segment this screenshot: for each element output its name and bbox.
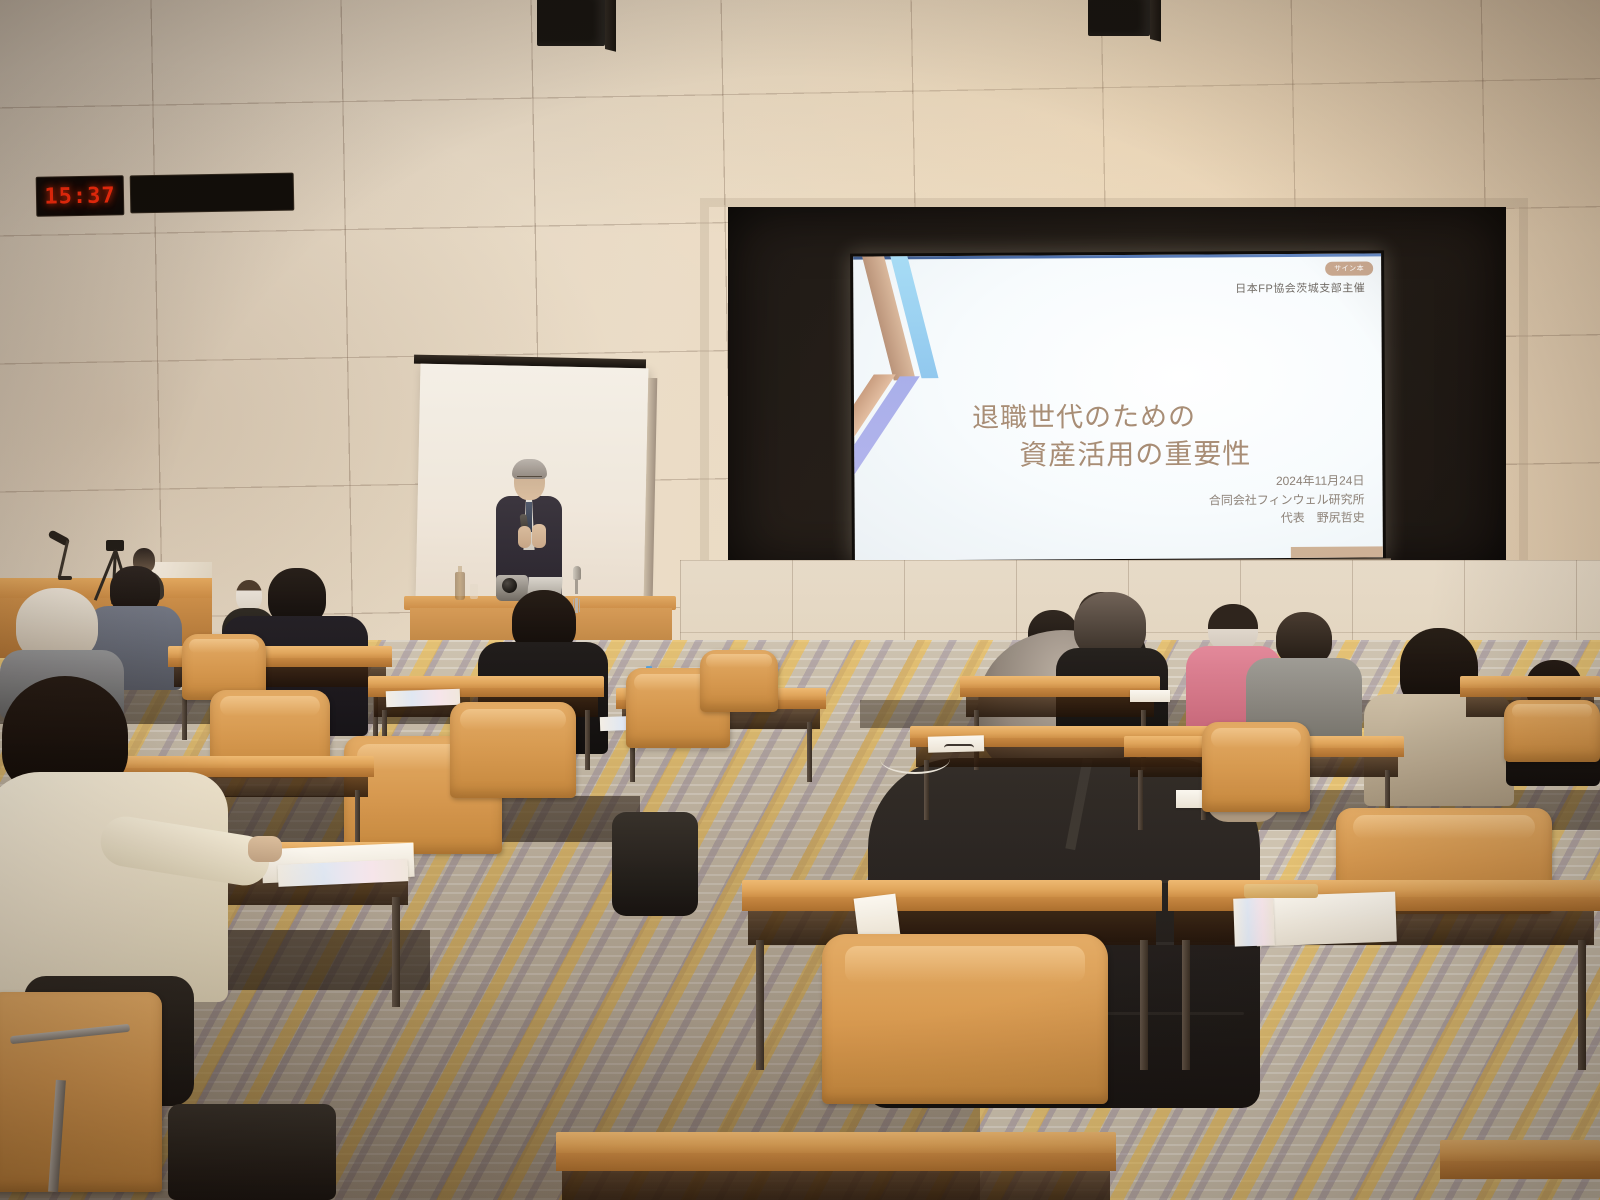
clock-time-display: 15:37 — [44, 183, 116, 209]
power-cable — [880, 744, 950, 774]
chair-back — [700, 650, 778, 712]
brochure — [1233, 897, 1275, 946]
chair[interactable] — [1504, 700, 1600, 762]
ceiling-speaker-left-icon — [537, 0, 605, 46]
desk-leg — [807, 722, 812, 782]
speaker-hand-left — [518, 526, 531, 548]
blank-signboard — [130, 173, 295, 214]
desk-leg — [1138, 770, 1143, 830]
desk-bottom-edge — [556, 1132, 1116, 1200]
glasses-icon — [517, 476, 542, 483]
desk-edge — [742, 897, 1162, 911]
desk-top — [1440, 1140, 1600, 1162]
slide-host-line: 日本FP協会茨城支部主催 — [1235, 279, 1365, 296]
backpack-on-floor — [168, 1104, 336, 1200]
desk-leg — [585, 710, 590, 770]
desk-edge — [556, 1153, 1116, 1171]
handout-paper — [1255, 892, 1397, 947]
desk-leg — [1182, 940, 1190, 1070]
desk-top — [742, 880, 1162, 898]
desk-leg — [355, 790, 360, 850]
chair[interactable] — [822, 934, 1108, 1104]
chair[interactable] — [450, 702, 576, 798]
chair-back — [1202, 722, 1310, 812]
handout-paper — [1130, 690, 1170, 702]
chair-highlight — [1211, 728, 1302, 748]
drinking-glass-icon — [470, 584, 478, 599]
chair[interactable] — [700, 650, 778, 712]
chair-highlight — [1512, 704, 1593, 718]
chair-highlight — [189, 639, 260, 654]
water-bottle-icon — [455, 572, 465, 600]
chair-highlight — [706, 654, 772, 668]
hand — [248, 836, 282, 862]
chair-back — [450, 702, 576, 798]
slide-meta-block: 2024年11月24日 合同会社フィンウェル研究所 代表 野尻哲史 — [1209, 472, 1365, 529]
chair-back — [0, 992, 162, 1192]
desk-top — [556, 1132, 1116, 1154]
desk-bottom-right-edge — [1440, 1140, 1600, 1200]
chair-highlight — [845, 946, 1085, 983]
slide-title-line-1: 退職世代のための — [972, 395, 1196, 435]
bag-on-floor-right — [612, 812, 698, 916]
speaker-hand-right — [532, 524, 546, 548]
chair-back — [822, 934, 1108, 1104]
desk-leg — [756, 940, 764, 1070]
lecture-hall-scene: 15:37 サイン本 日本FP協会茨城支部主催 退職世代のための 資産活用の重要… — [0, 0, 1600, 1200]
desk-leg — [1140, 940, 1148, 1070]
slide-title-line-2: 資産活用の重要性 — [1019, 432, 1251, 473]
projection-screen: サイン本 日本FP協会茨城支部主催 退職世代のための 資産活用の重要性 2024… — [850, 250, 1386, 563]
slide-footer-tab — [1291, 546, 1383, 558]
chair[interactable] — [1202, 722, 1310, 812]
digital-wall-clock: 15:37 — [36, 175, 125, 217]
chair[interactable] — [0, 992, 162, 1192]
slide-top-rule — [853, 253, 1381, 259]
slide-presenter: 代表 野尻哲史 — [1209, 509, 1365, 529]
desk-leg — [392, 897, 400, 1007]
chair-back — [1504, 700, 1600, 762]
eyeglasses-icon — [944, 744, 974, 752]
chair-highlight — [1353, 815, 1534, 838]
chair-highlight — [460, 709, 566, 730]
desk-edge — [1440, 1161, 1600, 1179]
slide-badge: サイン本 — [1325, 261, 1373, 275]
presentation-slide: サイン本 日本FP協会茨城支部主催 退職世代のための 資産活用の重要性 2024… — [853, 253, 1383, 560]
desk-apron — [562, 1171, 1110, 1200]
slide-date: 2024年11月24日 — [1209, 472, 1365, 492]
desk-leg — [1578, 940, 1586, 1070]
slide-company: 合同会社フィンウェル研究所 — [1209, 490, 1365, 510]
microphone-base — [58, 576, 72, 580]
ceiling-speaker-right-icon — [1088, 0, 1150, 36]
desk-edge — [1460, 688, 1600, 697]
torso — [0, 772, 228, 1002]
clipboard — [1244, 884, 1318, 898]
desk-apron — [966, 697, 1154, 717]
